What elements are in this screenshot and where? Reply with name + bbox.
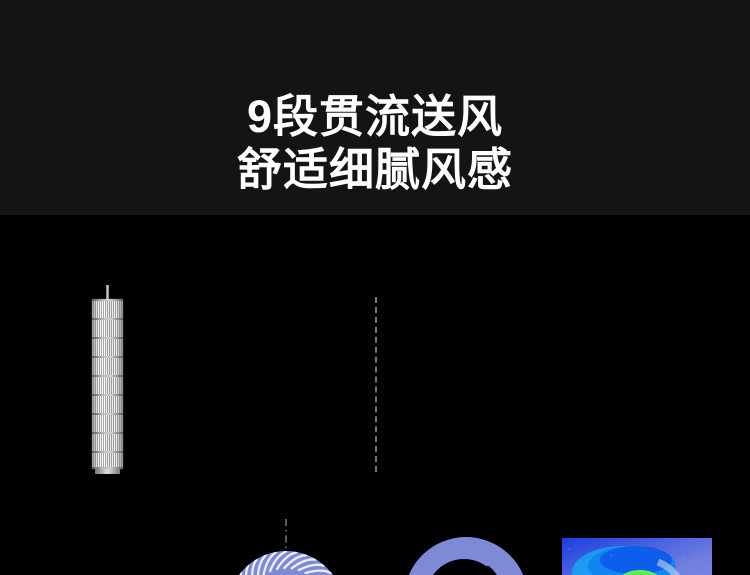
air-duct-diagram: [398, 533, 534, 575]
blade-wheel-diagram: [190, 513, 382, 575]
cfd-field: [562, 538, 712, 575]
fan-shaft-icon: [106, 285, 109, 299]
headline-line-2: 舒适细腻风感: [0, 147, 750, 192]
cfd-simulation-image: [562, 538, 712, 575]
feature-stage: 风轮技术：9段35片不等距贯流斜风轮 风道技术：渐开线扩压加速风道: [0, 215, 750, 575]
hero-band: 9段贯流送风 舒适细腻风感: [0, 0, 750, 215]
section-divider: [375, 297, 377, 472]
product-feature-banner: 9段贯流送风 舒适细腻风感: [0, 0, 750, 575]
cross-flow-fan-wheel-figure: [88, 285, 128, 470]
fan-segment-rings: [92, 299, 123, 469]
duct-ring-body: [398, 533, 534, 575]
headline-line-1: 9段贯流送风: [0, 94, 750, 139]
fan-end-cap: [95, 469, 120, 474]
